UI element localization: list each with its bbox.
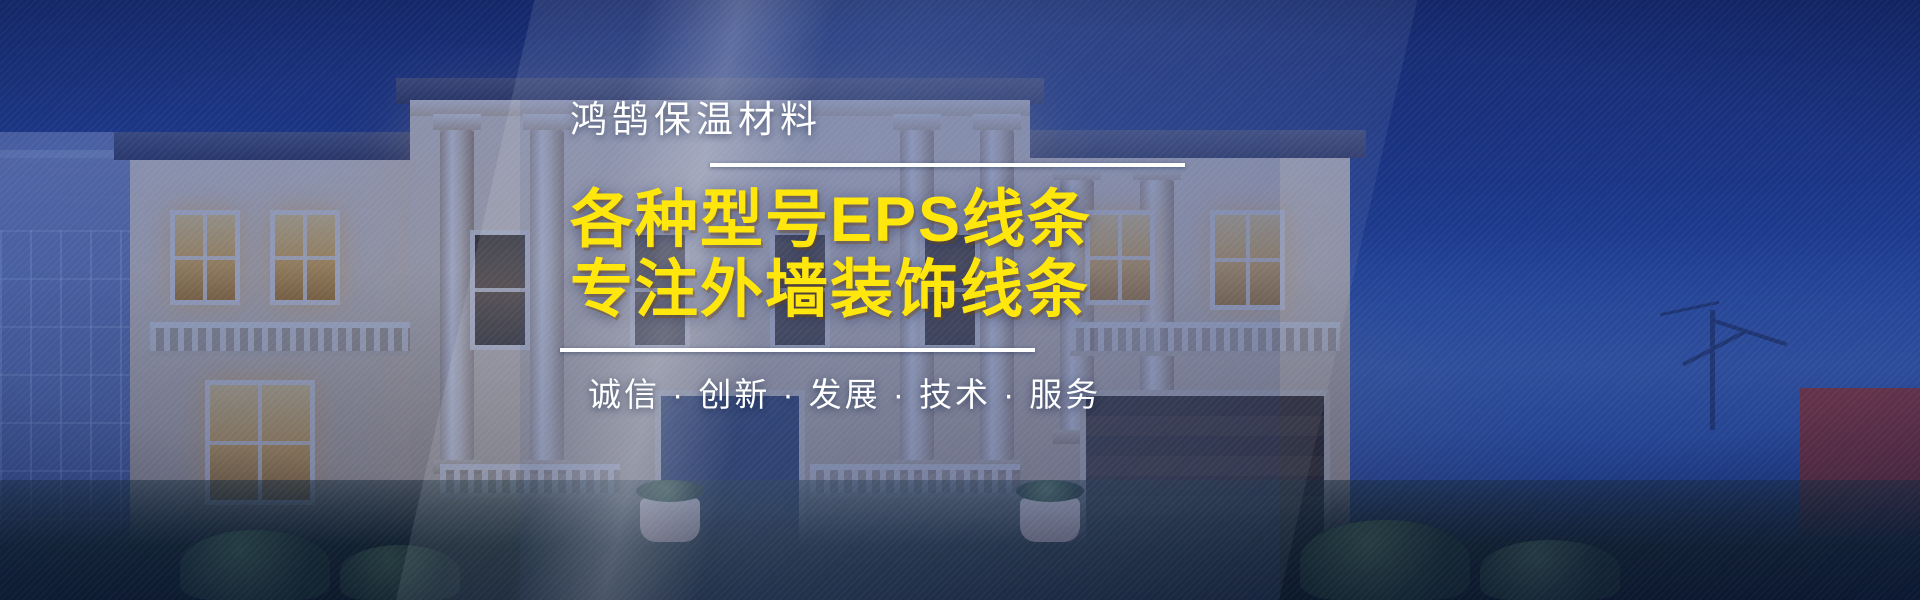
tagline: 诚信 · 创新 · 发展 · 技术 · 服务: [588, 368, 1200, 416]
promo-banner: 鸿鹄保温材料 各种型号EPS线条 专注外墙装饰线条 诚信 · 创新 · 发展 ·…: [0, 0, 1920, 600]
divider-rule-top: [710, 163, 1185, 167]
brand-eyebrow: 鸿鹄保温材料: [570, 100, 1200, 141]
headline-line-2: 专注外墙装饰线条: [570, 255, 1200, 326]
divider-rule-bottom: [560, 348, 1035, 352]
banner-copy-block: 鸿鹄保温材料 各种型号EPS线条 专注外墙装饰线条 诚信 · 创新 · 发展 ·…: [560, 100, 1200, 416]
headline-line-1: 各种型号EPS线条: [570, 185, 1200, 256]
